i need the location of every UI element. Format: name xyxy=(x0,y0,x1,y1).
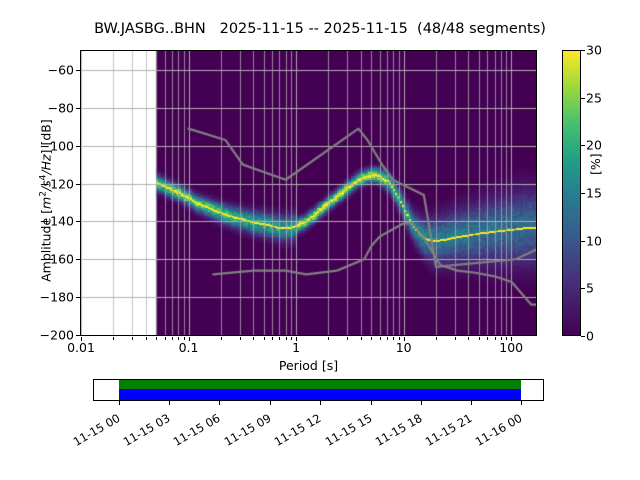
timeline-tick-labels: 11-15 0011-15 0311-15 0611-15 0911-15 12… xyxy=(0,0,640,480)
timeline-tick-label: 11-15 21 xyxy=(414,411,475,454)
timeline-tick-label: 11-15 12 xyxy=(263,411,324,454)
ppsd-figure: BW.JASBG..BHN 2025-11-15 -- 2025-11-15 (… xyxy=(0,0,640,480)
timeline-tick-label: 11-15 18 xyxy=(364,411,425,454)
timeline-tick-label: 11-16 00 xyxy=(464,411,525,454)
timeline-tick-label: 11-15 06 xyxy=(162,411,223,454)
timeline-tick-label: 11-15 03 xyxy=(112,411,173,454)
timeline-tick-label: 11-15 15 xyxy=(313,411,374,454)
timeline-tick-label: 11-15 09 xyxy=(212,411,273,454)
timeline-tick-label: 11-15 00 xyxy=(61,411,122,454)
